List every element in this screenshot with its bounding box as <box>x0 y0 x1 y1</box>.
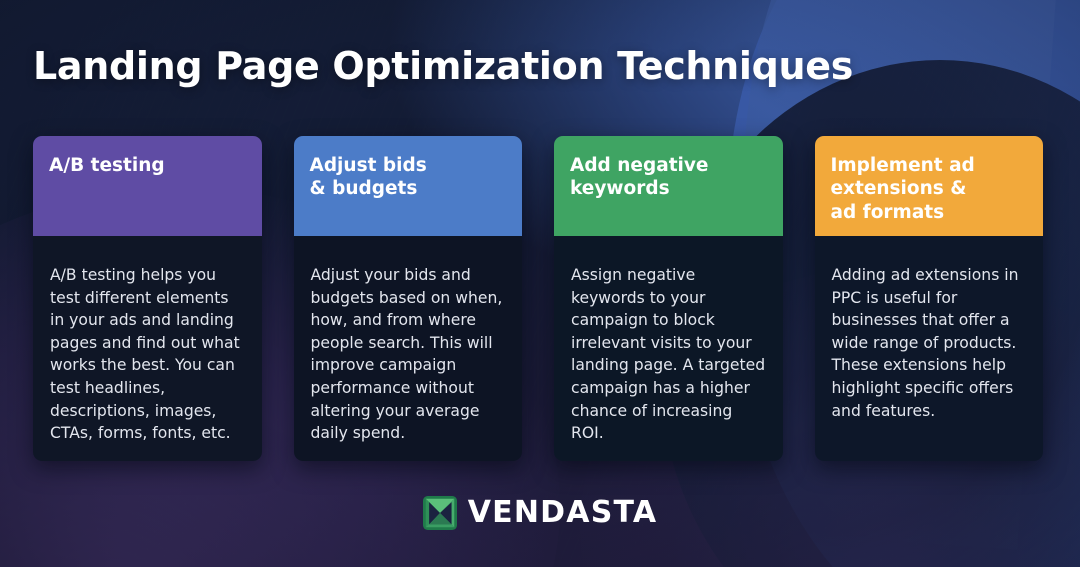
card-heading: Add negative keywords <box>554 136 783 236</box>
card-heading: Implement ad extensions & ad formats <box>815 136 1044 236</box>
slide-content: Landing Page Optimization Techniques A/B… <box>0 0 1080 567</box>
brand-logo: VENDASTA <box>0 496 1080 530</box>
card-body-text: Adding ad extensions in PPC is useful fo… <box>815 236 1044 461</box>
card-body-text: Assign negative keywords to your campaig… <box>554 236 783 461</box>
card-heading: A/B testing <box>33 136 262 236</box>
technique-card-add-negative-keywords: Add negative keywords Assign negative ke… <box>554 136 783 461</box>
page-title: Landing Page Optimization Techniques <box>33 45 853 88</box>
technique-card-ab-testing: A/B testing A/B testing helps you test d… <box>33 136 262 461</box>
brand-name: VENDASTA <box>468 498 658 528</box>
technique-card-adjust-bids-budgets: Adjust bids & budgets Adjust your bids a… <box>294 136 523 461</box>
card-body-text: A/B testing helps you test different ele… <box>33 236 262 461</box>
card-heading: Adjust bids & budgets <box>294 136 523 236</box>
card-body-text: Adjust your bids and budgets based on wh… <box>294 236 523 461</box>
vendasta-logo-icon <box>423 496 457 530</box>
slide-canvas: Landing Page Optimization Techniques A/B… <box>0 0 1080 567</box>
technique-card-implement-ad-extensions: Implement ad extensions & ad formats Add… <box>815 136 1044 461</box>
technique-card-list: A/B testing A/B testing helps you test d… <box>33 136 1043 461</box>
